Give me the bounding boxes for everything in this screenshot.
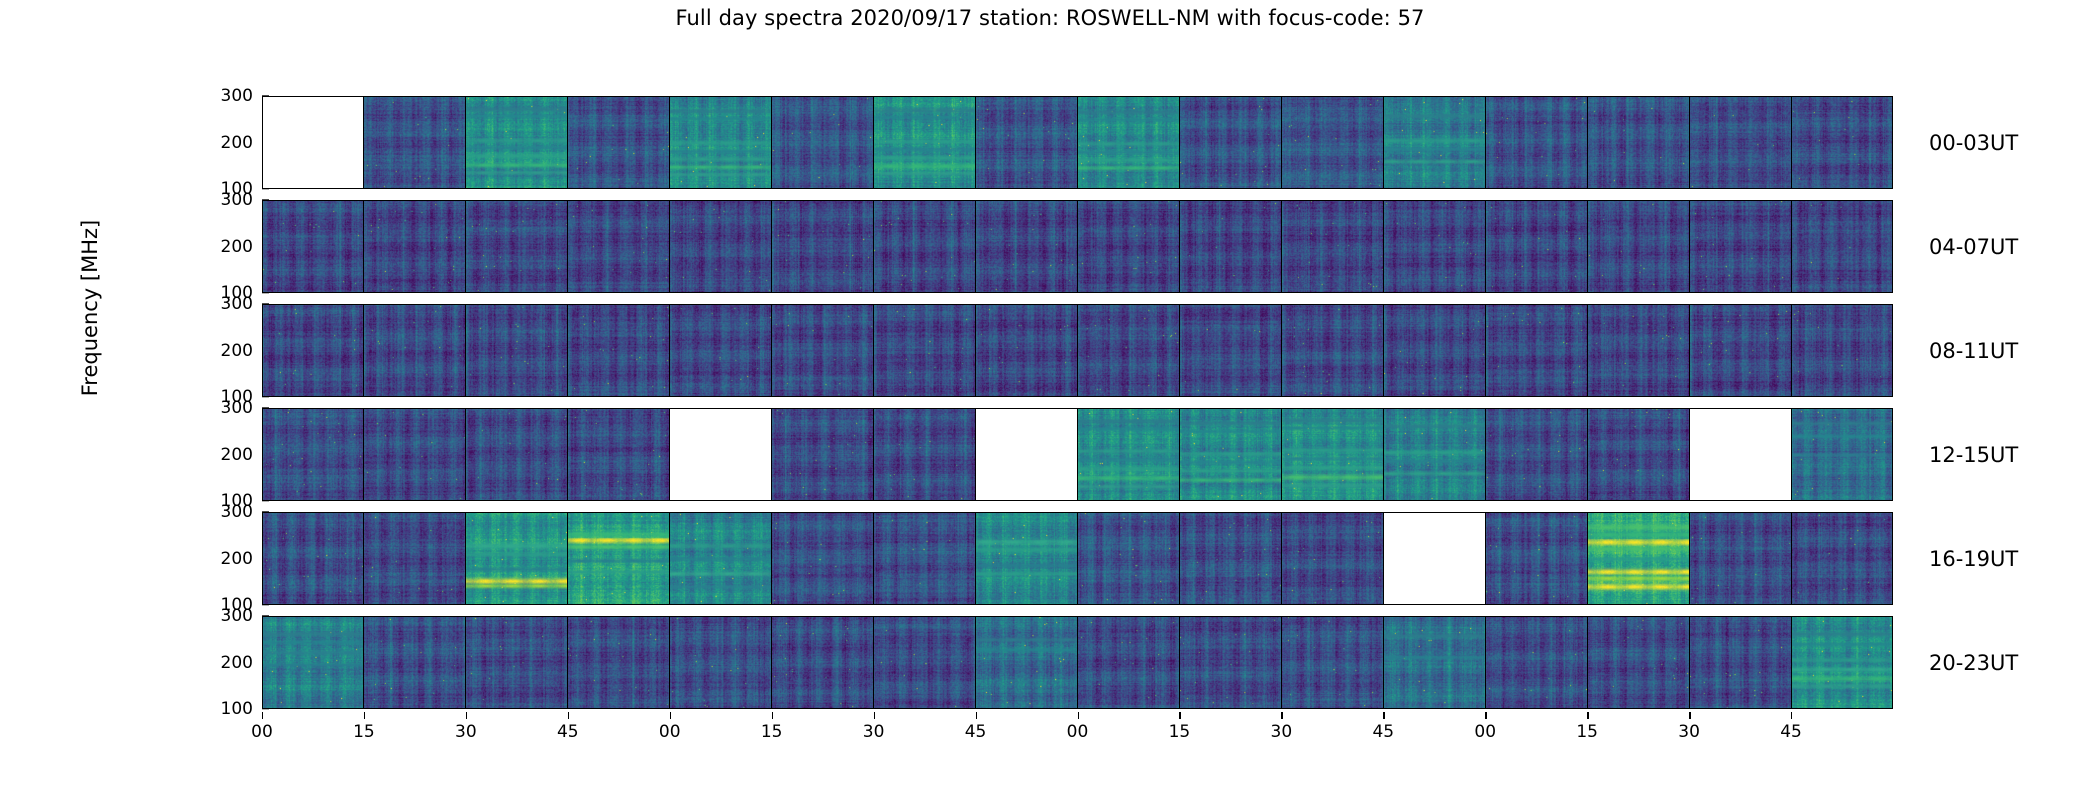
- spectrogram-panel: [772, 304, 874, 397]
- x-tick-mark: [874, 712, 875, 719]
- panel-pixels: [568, 96, 669, 189]
- panel-pixels: [466, 616, 567, 709]
- panel-pixels: [364, 96, 465, 189]
- x-tick-label: 00: [1474, 722, 1496, 742]
- spectrogram-panel-missing: [976, 408, 1078, 501]
- x-tick-label: 45: [965, 722, 987, 742]
- y-axis-ticks-row-0: 300200100: [2, 96, 262, 189]
- panel-pixels: [1078, 408, 1179, 501]
- panel-pixels: [1180, 304, 1281, 397]
- y-tick-label: 300: [221, 502, 262, 522]
- spectrogram-panel: [568, 304, 670, 397]
- spectrogram-panel: [1690, 304, 1792, 397]
- panel-pixels: [1588, 512, 1689, 605]
- spectrogram-panel: [1486, 616, 1588, 709]
- panel-pixels: [874, 304, 975, 397]
- panel-pixels: [262, 512, 363, 605]
- x-tick-mark: [772, 712, 773, 719]
- x-tick-label: 30: [1678, 722, 1700, 742]
- y-tick-label: 300: [221, 398, 262, 418]
- spectrogram-row-2: 30020010008-11UT: [262, 304, 1893, 397]
- panel-pixels: [1486, 200, 1587, 293]
- panel-pixels: [1180, 512, 1281, 605]
- spectrogram-panel: [1282, 200, 1384, 293]
- row-label-12-15ut: 12-15UT: [1929, 443, 2018, 467]
- y-tick-label: 300: [221, 606, 262, 626]
- y-tick-label: 200: [221, 445, 262, 465]
- spectrogram-panel: [976, 512, 1078, 605]
- spectrogram-panel: [874, 512, 976, 605]
- spectrogram-panel: [1180, 616, 1282, 709]
- x-tick-mark: [1791, 712, 1792, 719]
- spectrogram-panel: [1690, 512, 1792, 605]
- panel-pixels: [874, 200, 975, 293]
- x-tick-label: 45: [557, 722, 579, 742]
- spectrogram-panel: [772, 96, 874, 189]
- x-tick-mark: [1689, 712, 1690, 719]
- panel-pixels: [262, 200, 363, 293]
- panel-pixels: [1690, 200, 1791, 293]
- spectrogram-row-4: 30020010016-19UT: [262, 512, 1893, 605]
- panel-pixels: [1282, 408, 1383, 501]
- panel-pixels: [874, 512, 975, 605]
- panel-pixels: [262, 304, 363, 397]
- spectrogram-panel: [1588, 408, 1690, 501]
- spectrogram-panel: [1282, 408, 1384, 501]
- spectrogram-panel: [1384, 616, 1486, 709]
- spectrogram-panel: [1078, 96, 1180, 189]
- panel-pixels: [1282, 512, 1383, 605]
- spectrogram-panel: [1078, 200, 1180, 293]
- spectrogram-panel: [1180, 200, 1282, 293]
- panel-pixels: [670, 616, 771, 709]
- panel-pixels: [1486, 408, 1587, 501]
- spectrogram-panel: [568, 96, 670, 189]
- panel-pixels: [1792, 616, 1893, 709]
- x-tick-mark: [670, 712, 671, 719]
- panel-pixels: [262, 408, 363, 501]
- spectrogram-panel: [1588, 200, 1690, 293]
- spectrogram-panel: [874, 616, 976, 709]
- spectrogram-panel: [772, 200, 874, 293]
- spectrogram-panel: [466, 616, 568, 709]
- panel-pixels: [568, 616, 669, 709]
- spectrogram-panel: [262, 304, 364, 397]
- spectrogram-panel: [670, 512, 772, 605]
- spectrogram-panel: [568, 616, 670, 709]
- spectrogram-panel: [1078, 304, 1180, 397]
- x-tick-mark: [1485, 712, 1486, 719]
- x-tick-label: 30: [1271, 722, 1293, 742]
- panel-pixels: [1078, 304, 1179, 397]
- spectrogram-panel: [772, 616, 874, 709]
- panel-pixels: [670, 304, 771, 397]
- spectrogram-panel: [262, 616, 364, 709]
- panel-pixels: [1792, 512, 1893, 605]
- panel-pixels: [1078, 616, 1179, 709]
- spectrogram-panel: [976, 96, 1078, 189]
- panel-pixels: [772, 200, 873, 293]
- spectrogram-panel-missing: [1690, 408, 1792, 501]
- spectrogram-panel: [1792, 512, 1893, 605]
- panel-pixels: [772, 304, 873, 397]
- panel-pixels: [1180, 200, 1281, 293]
- panel-pixels: [772, 512, 873, 605]
- x-tick-mark: [466, 712, 467, 719]
- panel-strip: [262, 512, 1893, 605]
- panel-pixels: [1792, 408, 1893, 501]
- y-axis-ticks-row-2: 300200100: [2, 304, 262, 397]
- y-tick-label: 200: [221, 237, 262, 257]
- panel-pixels: [1180, 616, 1281, 709]
- spectrogram-panel: [1792, 408, 1893, 501]
- spectrogram-panel: [1690, 616, 1792, 709]
- y-tick-label: 300: [221, 294, 262, 314]
- spectrogram-panel: [1078, 616, 1180, 709]
- spectrogram-panel: [364, 200, 466, 293]
- spectrogram-panel: [1792, 304, 1893, 397]
- panel-pixels: [976, 200, 1077, 293]
- panel-pixels: [1384, 200, 1485, 293]
- panel-pixels: [568, 200, 669, 293]
- y-tick-label: 300: [221, 86, 262, 106]
- panel-pixels: [1078, 512, 1179, 605]
- panel-pixels: [874, 408, 975, 501]
- spectrogram-panel-missing: [1384, 512, 1486, 605]
- panel-pixels: [466, 512, 567, 605]
- panel-pixels: [1486, 304, 1587, 397]
- panel-pixels: [670, 200, 771, 293]
- spectrogram-row-1: 30020010004-07UT: [262, 200, 1893, 293]
- panel-strip: [262, 304, 1893, 397]
- panel-pixels: [1078, 200, 1179, 293]
- spectrogram-panel: [466, 304, 568, 397]
- panel-pixels: [976, 512, 1077, 605]
- x-tick-mark: [1179, 712, 1180, 719]
- spectrogram-panel: [568, 200, 670, 293]
- panel-pixels: [1486, 616, 1587, 709]
- spectrogram-figure: Full day spectra 2020/09/17 station: ROS…: [0, 0, 2100, 800]
- spectrogram-panel: [1486, 304, 1588, 397]
- y-tick-label: 200: [221, 549, 262, 569]
- spectrogram-panel: [1180, 408, 1282, 501]
- panel-pixels: [1588, 304, 1689, 397]
- spectrogram-panel: [1588, 96, 1690, 189]
- spectrogram-panel: [670, 200, 772, 293]
- panel-pixels: [364, 512, 465, 605]
- panel-pixels: [364, 616, 465, 709]
- y-axis-ticks-row-5: 300200100: [2, 616, 262, 709]
- x-tick-label: 30: [455, 722, 477, 742]
- x-tick-mark: [262, 712, 263, 719]
- panel-pixels: [466, 200, 567, 293]
- spectrogram-panel: [364, 616, 466, 709]
- row-label-08-11ut: 08-11UT: [1929, 339, 2018, 363]
- spectrogram-panel: [1486, 408, 1588, 501]
- panel-pixels: [1588, 408, 1689, 501]
- y-tick-label: 100: [221, 699, 262, 719]
- spectrogram-panel: [670, 616, 772, 709]
- panel-pixels: [568, 408, 669, 501]
- spectrogram-panel: [1588, 616, 1690, 709]
- panel-pixels: [364, 408, 465, 501]
- row-label-04-07ut: 04-07UT: [1929, 235, 2018, 259]
- spectrogram-panel: [976, 616, 1078, 709]
- panel-pixels: [1384, 304, 1485, 397]
- spectrogram-panel: [1180, 96, 1282, 189]
- spectrogram-row-0: 30020010000-03UT: [262, 96, 1893, 189]
- spectrogram-panel: [1486, 96, 1588, 189]
- spectrogram-panel: [1384, 408, 1486, 501]
- spectrogram-panel: [364, 304, 466, 397]
- x-tick-label: 15: [1169, 722, 1191, 742]
- spectrogram-panel-missing: [262, 96, 364, 189]
- panel-pixels: [1690, 96, 1791, 189]
- spectrogram-panel: [466, 200, 568, 293]
- x-tick-label: 45: [1780, 722, 1802, 742]
- spectrogram-panel: [772, 512, 874, 605]
- spectrogram-panel: [466, 96, 568, 189]
- panel-pixels: [1384, 616, 1485, 709]
- y-tick-label: 200: [221, 341, 262, 361]
- panel-pixels: [364, 304, 465, 397]
- spectrogram-panel: [874, 304, 976, 397]
- x-tick-label: 15: [761, 722, 783, 742]
- spectrogram-panel: [364, 96, 466, 189]
- y-axis-ticks-row-4: 300200100: [2, 512, 262, 605]
- panel-pixels: [670, 96, 771, 189]
- panel-pixels: [976, 616, 1077, 709]
- row-label-16-19ut: 16-19UT: [1929, 547, 2018, 571]
- spectrogram-panel: [466, 512, 568, 605]
- panel-pixels: [772, 408, 873, 501]
- panel-pixels: [1792, 304, 1893, 397]
- panel-pixels: [1180, 408, 1281, 501]
- x-tick-mark: [1383, 712, 1384, 719]
- spectrogram-panel: [1180, 304, 1282, 397]
- spectrogram-panel: [1282, 96, 1384, 189]
- spectrogram-panel: [1282, 616, 1384, 709]
- row-label-00-03ut: 00-03UT: [1929, 131, 2018, 155]
- x-tick-label: 45: [1372, 722, 1394, 742]
- spectrogram-panel: [262, 408, 364, 501]
- spectrogram-panel: [1588, 512, 1690, 605]
- panel-strip: [262, 408, 1893, 501]
- panel-strip: [262, 96, 1893, 189]
- x-tick-label: 00: [1067, 722, 1089, 742]
- panel-pixels: [262, 616, 363, 709]
- spectrogram-panel: [772, 408, 874, 501]
- spectrogram-panel: [1078, 512, 1180, 605]
- panel-pixels: [1486, 96, 1587, 189]
- spectrogram-panel: [1792, 96, 1893, 189]
- x-tick-mark: [364, 712, 365, 719]
- x-tick-label: 15: [353, 722, 375, 742]
- panel-pixels: [364, 200, 465, 293]
- spectrogram-panel: [1486, 512, 1588, 605]
- spectrogram-panel: [976, 304, 1078, 397]
- panel-pixels: [1282, 200, 1383, 293]
- panel-pixels: [466, 408, 567, 501]
- panel-pixels: [1078, 96, 1179, 189]
- panel-pixels: [874, 616, 975, 709]
- spectrogram-panel: [1486, 200, 1588, 293]
- y-tick-label: 300: [221, 190, 262, 210]
- spectrogram-panel: [364, 512, 466, 605]
- spectrogram-panel: [874, 200, 976, 293]
- spectrogram-panel: [364, 408, 466, 501]
- y-axis-ticks-row-3: 300200100: [2, 408, 262, 501]
- x-tick-mark: [1587, 712, 1588, 719]
- panel-pixels: [670, 512, 771, 605]
- x-tick-label: 15: [1576, 722, 1598, 742]
- spectrogram-panel: [976, 200, 1078, 293]
- x-tick-label: 00: [659, 722, 681, 742]
- panel-pixels: [1384, 408, 1485, 501]
- panel-pixels: [1282, 96, 1383, 189]
- spectrogram-panel: [568, 408, 670, 501]
- panel-pixels: [874, 96, 975, 189]
- y-tick-label: 200: [221, 133, 262, 153]
- spectrogram-row-3: 30020010012-15UT: [262, 408, 1893, 501]
- panel-pixels: [1792, 96, 1893, 189]
- panel-pixels: [772, 96, 873, 189]
- spectrogram-panel: [874, 96, 976, 189]
- spectrogram-row-5: 30020010020-23UT: [262, 616, 1893, 709]
- y-tick-label: 200: [221, 653, 262, 673]
- y-axis-ticks-row-1: 300200100: [2, 200, 262, 293]
- panel-pixels: [976, 96, 1077, 189]
- panel-pixels: [1690, 304, 1791, 397]
- panel-pixels: [1588, 200, 1689, 293]
- spectrogram-panel: [466, 408, 568, 501]
- spectrogram-panel: [1792, 200, 1893, 293]
- panel-pixels: [1180, 96, 1281, 189]
- row-label-20-23ut: 20-23UT: [1929, 651, 2018, 675]
- panel-pixels: [1282, 304, 1383, 397]
- spectrogram-panel: [1690, 200, 1792, 293]
- spectrogram-panel: [1282, 512, 1384, 605]
- x-tick-mark: [976, 712, 977, 719]
- panel-pixels: [1690, 616, 1791, 709]
- spectrogram-panel: [1588, 304, 1690, 397]
- spectrogram-panel: [262, 200, 364, 293]
- spectrogram-panel: [1384, 200, 1486, 293]
- x-tick-mark: [1078, 712, 1079, 719]
- spectrogram-panel: [1282, 304, 1384, 397]
- spectrogram-panel: [262, 512, 364, 605]
- panel-pixels: [1588, 96, 1689, 189]
- spectrogram-panel: [1792, 616, 1893, 709]
- x-axis: 00153045001530450015304500153045: [262, 712, 1893, 758]
- panel-strip: [262, 200, 1893, 293]
- spectrogram-panel: [568, 512, 670, 605]
- panel-pixels: [1792, 200, 1893, 293]
- figure-title: Full day spectra 2020/09/17 station: ROS…: [0, 6, 2100, 30]
- panel-pixels: [466, 96, 567, 189]
- spectrogram-panel: [1180, 512, 1282, 605]
- panel-pixels: [1486, 512, 1587, 605]
- x-tick-mark: [1281, 712, 1282, 719]
- x-tick-label: 30: [863, 722, 885, 742]
- panel-pixels: [466, 304, 567, 397]
- spectrogram-panel: [1384, 96, 1486, 189]
- panel-pixels: [1384, 96, 1485, 189]
- x-tick-mark: [568, 712, 569, 719]
- panel-pixels: [568, 304, 669, 397]
- panel-pixels: [568, 512, 669, 605]
- panel-pixels: [772, 616, 873, 709]
- panel-pixels: [1690, 512, 1791, 605]
- panel-strip: [262, 616, 1893, 709]
- spectrogram-panel: [670, 304, 772, 397]
- spectrogram-panel: [874, 408, 976, 501]
- x-tick-label: 00: [251, 722, 273, 742]
- panel-pixels: [1282, 616, 1383, 709]
- spectrogram-panel: [1078, 408, 1180, 501]
- spectrogram-panel: [670, 96, 772, 189]
- panel-pixels: [1588, 616, 1689, 709]
- spectrogram-panel: [1690, 96, 1792, 189]
- panel-pixels: [976, 304, 1077, 397]
- spectrogram-panel: [1384, 304, 1486, 397]
- spectrogram-panel-missing: [670, 408, 772, 501]
